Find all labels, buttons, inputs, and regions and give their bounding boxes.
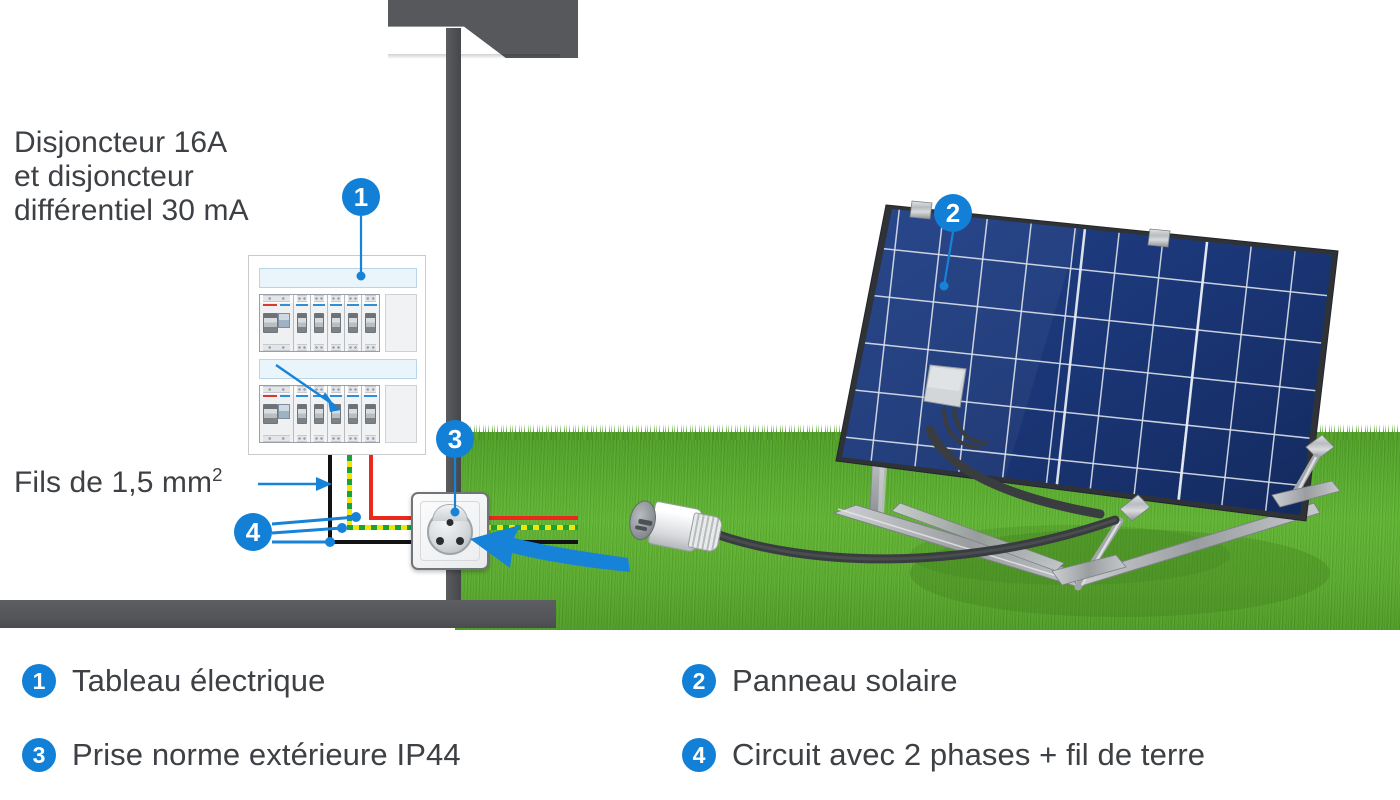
prise-ip44[interactable] bbox=[411, 492, 489, 570]
rcd-toggle[interactable] bbox=[263, 313, 278, 333]
legend-label-3: Prise norme extérieure IP44 bbox=[72, 737, 461, 773]
panel-row-1-header bbox=[259, 268, 417, 288]
screw-bottom bbox=[314, 344, 324, 351]
screw-bottom bbox=[348, 344, 358, 351]
screw-top bbox=[297, 295, 307, 302]
rcd-blue-bar bbox=[280, 395, 290, 397]
panel-blank-space-2 bbox=[385, 385, 417, 443]
panel-row-2 bbox=[259, 359, 417, 443]
rcd-test-indicator bbox=[263, 304, 277, 306]
breaker-16a-10[interactable] bbox=[362, 386, 379, 442]
screw-top bbox=[331, 386, 341, 393]
legend-item-2[interactable]: 2 Panneau solaire bbox=[682, 663, 1382, 699]
rcd-blue-bar bbox=[280, 304, 290, 306]
breaker-blue-bar bbox=[364, 395, 377, 397]
callout-badge-3[interactable]: 3 bbox=[436, 420, 474, 458]
plug-pin-neutral bbox=[635, 525, 648, 531]
screw-bottom bbox=[331, 435, 341, 442]
breaker-toggle[interactable] bbox=[365, 404, 376, 424]
panel-row-2-breakers bbox=[259, 385, 417, 443]
legend-badge-3: 3 bbox=[22, 738, 56, 772]
screw-top bbox=[263, 295, 290, 302]
breaker-toggle[interactable] bbox=[314, 313, 324, 333]
socket-hole-left bbox=[436, 537, 444, 545]
screw-bottom bbox=[263, 344, 290, 351]
legend-badge-4: 4 bbox=[682, 738, 716, 772]
screw-bottom bbox=[331, 344, 341, 351]
screw-bottom bbox=[297, 435, 307, 442]
screw-top bbox=[365, 295, 376, 302]
house-roof bbox=[388, 0, 578, 58]
breaker-toggle[interactable] bbox=[297, 313, 307, 333]
breaker-16a-7[interactable] bbox=[311, 386, 328, 442]
screw-bottom bbox=[348, 435, 358, 442]
panel-row-1 bbox=[259, 268, 417, 352]
breaker-blue-bar bbox=[347, 395, 359, 397]
socket-inner-plate bbox=[420, 501, 480, 561]
legend-item-4[interactable]: 4 Circuit avec 2 phases + fil de terre bbox=[682, 737, 1382, 773]
earth-wire-vertical bbox=[347, 455, 352, 529]
breaker-blue-bar bbox=[296, 395, 308, 397]
breaker-blue-bar bbox=[330, 304, 342, 306]
breaker-16a-8[interactable] bbox=[328, 386, 345, 442]
phase-wire-vertical bbox=[369, 455, 373, 520]
breaker-toggle[interactable] bbox=[365, 313, 376, 333]
screw-bottom bbox=[365, 435, 376, 442]
breaker-16a-2[interactable] bbox=[311, 295, 328, 351]
breaker-toggle[interactable] bbox=[314, 404, 324, 424]
screw-top bbox=[297, 386, 307, 393]
screw-top bbox=[365, 386, 376, 393]
roof-shadow bbox=[388, 54, 560, 59]
screw-bottom bbox=[365, 344, 376, 351]
screw-top bbox=[263, 386, 290, 393]
legend-badge-2: 2 bbox=[682, 664, 716, 698]
breaker-blue-bar bbox=[296, 304, 308, 306]
legend-label-4: Circuit avec 2 phases + fil de terre bbox=[732, 737, 1205, 773]
screw-top bbox=[314, 295, 324, 302]
callout-badge-2[interactable]: 2 bbox=[934, 194, 972, 232]
breaker-toggle[interactable] bbox=[348, 404, 358, 424]
screw-top bbox=[331, 295, 341, 302]
breaker-blue-bar bbox=[313, 395, 325, 397]
screw-bottom bbox=[297, 344, 307, 351]
breaker-toggle[interactable] bbox=[331, 404, 341, 424]
rcd-test-button[interactable] bbox=[278, 404, 290, 419]
rcd-test-indicator bbox=[263, 395, 277, 397]
breaker-16a-6[interactable] bbox=[294, 386, 311, 442]
plug-grip-rings bbox=[687, 512, 723, 553]
illustration-scene: 1 2 3 4 Disjoncteur 16A et disjoncteur d… bbox=[0, 0, 1400, 630]
breaker-blue-bar bbox=[364, 304, 377, 306]
screw-top bbox=[348, 386, 358, 393]
screw-top bbox=[314, 386, 324, 393]
breaker-16a-4[interactable] bbox=[345, 295, 362, 351]
diagram-root: 1 2 3 4 Disjoncteur 16A et disjoncteur d… bbox=[0, 0, 1400, 800]
screw-top bbox=[348, 295, 358, 302]
breaker-16a-3[interactable] bbox=[328, 295, 345, 351]
callout-badge-1[interactable]: 1 bbox=[342, 178, 380, 216]
rcd-test-button[interactable] bbox=[278, 313, 290, 328]
rcd-toggle[interactable] bbox=[263, 404, 278, 424]
breaker-16a-9[interactable] bbox=[345, 386, 362, 442]
screw-bottom bbox=[263, 435, 290, 442]
breaker-blue-bar bbox=[347, 304, 359, 306]
socket-face bbox=[427, 509, 473, 555]
legend-item-1[interactable]: 1 Tableau électrique bbox=[22, 663, 682, 699]
breaker-16a-5[interactable] bbox=[362, 295, 379, 351]
panel-blank-space-1 bbox=[385, 294, 417, 352]
solar-panel-assembly bbox=[820, 195, 1400, 625]
legend-label-2: Panneau solaire bbox=[732, 663, 958, 699]
breaker-blue-bar bbox=[330, 395, 342, 397]
breaker-16a-1[interactable] bbox=[294, 295, 311, 351]
breaker-bank-1[interactable] bbox=[259, 294, 380, 352]
breaker-toggle[interactable] bbox=[297, 404, 307, 424]
wire-annotation-text: Fils de 1,5 mm2 bbox=[14, 464, 223, 500]
neutral-wire-vertical bbox=[328, 455, 332, 544]
panel-row-1-breakers bbox=[259, 294, 417, 352]
rcd-breaker-30ma-2[interactable] bbox=[260, 386, 294, 442]
breaker-bank-2[interactable] bbox=[259, 385, 380, 443]
breaker-blue-bar bbox=[313, 304, 325, 306]
callout-badge-4[interactable]: 4 bbox=[234, 513, 272, 551]
solar-panel-svg bbox=[820, 195, 1400, 625]
legend-label-1: Tableau électrique bbox=[72, 663, 325, 699]
socket-ground-pin bbox=[447, 519, 454, 526]
legend-badge-1: 1 bbox=[22, 664, 56, 698]
panel-row-2-header bbox=[259, 359, 417, 379]
breaker-annotation-text: Disjoncteur 16A et disjoncteur différent… bbox=[14, 126, 249, 229]
rcd-breaker-30ma-1[interactable] bbox=[260, 295, 294, 351]
socket-hole-right bbox=[456, 537, 464, 545]
tableau-electrique[interactable] bbox=[248, 255, 426, 455]
floor-slab bbox=[0, 600, 556, 628]
legend-grid: 1 Tableau électrique 2 Panneau solaire 3… bbox=[22, 644, 1382, 792]
breaker-toggle[interactable] bbox=[331, 313, 341, 333]
wire-annotation-label: Fils de 1,5 mm bbox=[14, 466, 212, 499]
screw-bottom bbox=[314, 435, 324, 442]
wire-annotation-exponent: 2 bbox=[212, 464, 222, 485]
legend-panel: 1 Tableau électrique 2 Panneau solaire 3… bbox=[0, 630, 1400, 800]
breaker-toggle[interactable] bbox=[348, 313, 358, 333]
legend-item-3[interactable]: 3 Prise norme extérieure IP44 bbox=[22, 737, 682, 773]
